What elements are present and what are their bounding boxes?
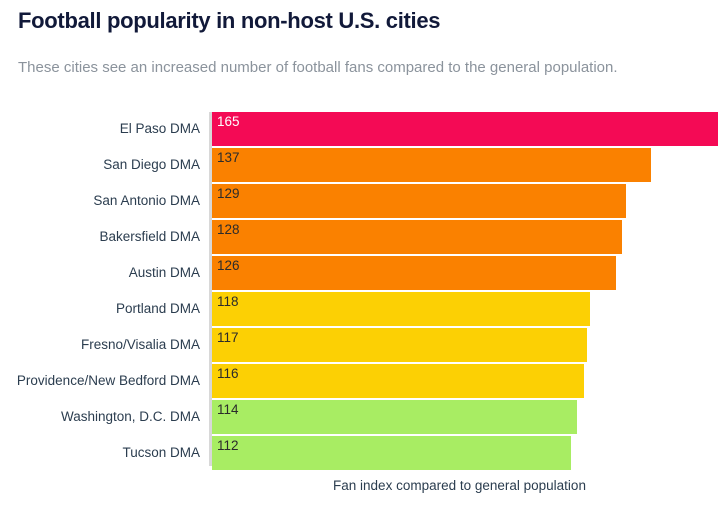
bar[interactable]: 118 [212, 292, 590, 326]
bar-track: 128 [212, 220, 719, 254]
bar-track: 112 [212, 436, 719, 470]
x-axis-caption: Fan index compared to general population [0, 478, 719, 493]
bar-value-label: 165 [217, 114, 240, 130]
bar-value-label: 137 [217, 150, 240, 166]
bar-row-list: El Paso DMA165San Diego DMA137San Antoni… [0, 112, 719, 472]
bar-track: 126 [212, 256, 719, 290]
bar-value-label: 118 [217, 294, 239, 310]
bar-category-label: San Antonio DMA [93, 184, 200, 218]
bar-track: 114 [212, 400, 719, 434]
bar[interactable]: 165 [212, 112, 718, 146]
bar-row[interactable]: Austin DMA126 [0, 256, 719, 290]
bar-row[interactable]: El Paso DMA165 [0, 112, 719, 146]
bar-category-label: Austin DMA [129, 256, 200, 290]
bar-category-label: Tucson DMA [122, 436, 200, 470]
bar-track: 137 [212, 148, 719, 182]
bar-category-label: San Diego DMA [103, 148, 200, 182]
bar-value-label: 129 [217, 186, 240, 202]
bar[interactable]: 117 [212, 328, 587, 362]
bar-category-label: El Paso DMA [120, 112, 200, 146]
bar-track: 118 [212, 292, 719, 326]
bar[interactable]: 128 [212, 220, 622, 254]
bar-value-label: 114 [217, 402, 239, 418]
bar-row[interactable]: Tucson DMA112 [0, 436, 719, 470]
bar-track: 116 [212, 364, 719, 398]
chart-subtitle: These cities see an increased number of … [18, 59, 618, 76]
bar[interactable]: 112 [212, 436, 571, 470]
bar-track: 117 [212, 328, 719, 362]
bar[interactable]: 114 [212, 400, 577, 434]
bar-category-label: Fresno/Visalia DMA [81, 328, 200, 362]
chart-card: Football popularity in non-host U.S. cit… [0, 0, 719, 509]
bar[interactable]: 126 [212, 256, 616, 290]
bar-category-label: Washington, D.C. DMA [61, 400, 200, 434]
bar-value-label: 128 [217, 222, 240, 238]
bar[interactable]: 137 [212, 148, 651, 182]
bar[interactable]: 116 [212, 364, 584, 398]
plot-area: El Paso DMA165San Diego DMA137San Antoni… [0, 112, 719, 468]
chart-title: Football popularity in non-host U.S. cit… [18, 8, 440, 34]
bar-row[interactable]: Portland DMA118 [0, 292, 719, 326]
bar-track: 129 [212, 184, 719, 218]
x-axis-caption-text: Fan index compared to general population [333, 478, 586, 493]
bar[interactable]: 129 [212, 184, 626, 218]
bar-value-label: 116 [217, 366, 239, 382]
bar-row[interactable]: Washington, D.C. DMA114 [0, 400, 719, 434]
bar-value-label: 126 [217, 258, 240, 274]
bar-value-label: 112 [217, 438, 239, 454]
bar-track: 165 [212, 112, 719, 146]
bar-category-label: Providence/New Bedford DMA [17, 364, 200, 398]
bar-row[interactable]: Providence/New Bedford DMA116 [0, 364, 719, 398]
bar-row[interactable]: San Diego DMA137 [0, 148, 719, 182]
bar-value-label: 117 [217, 330, 239, 346]
bar-category-label: Bakersfield DMA [99, 220, 200, 254]
bar-category-label: Portland DMA [116, 292, 200, 326]
bar-row[interactable]: Bakersfield DMA128 [0, 220, 719, 254]
bar-row[interactable]: Fresno/Visalia DMA117 [0, 328, 719, 362]
bar-row[interactable]: San Antonio DMA129 [0, 184, 719, 218]
